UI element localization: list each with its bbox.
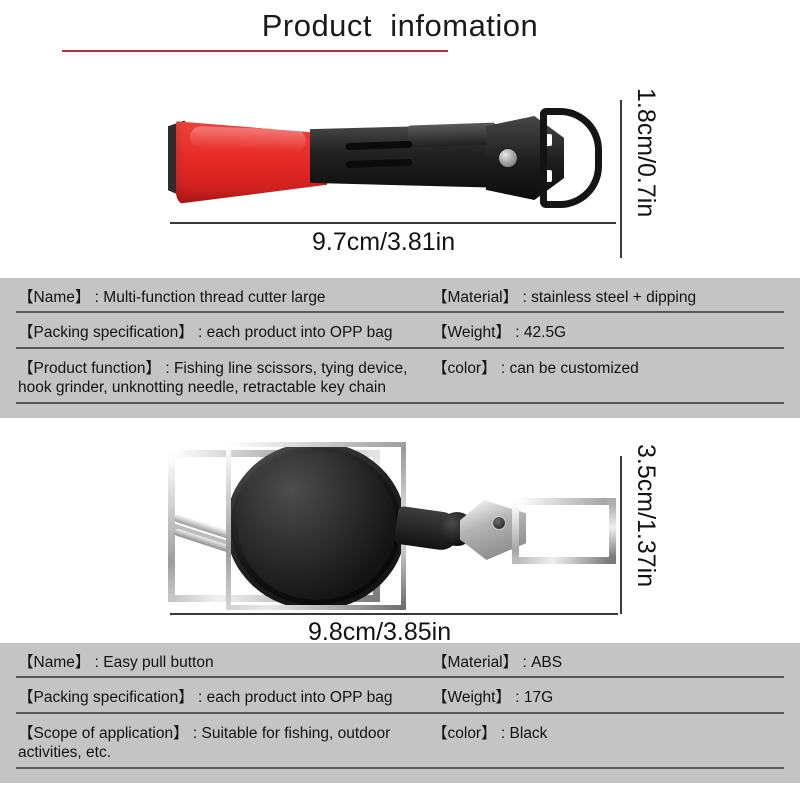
product-2-figure: 9.8cm/3.85in 3.5cm/1.37in	[0, 428, 800, 640]
table-row: 【Scope of application】 : Suitable for fi…	[0, 714, 800, 770]
spec-label: 【Scope of application】	[18, 725, 189, 742]
header-underline	[62, 50, 448, 52]
spec-value: each product into OPP bag	[207, 324, 393, 341]
spec-label: 【Name】	[18, 289, 90, 306]
spec-label: 【Name】	[18, 654, 90, 671]
table-row: 【Name】 : Easy pull button 【Material】 : A…	[0, 643, 800, 678]
product-1-spec-table: 【Name】 : Multi-function thread cutter la…	[0, 278, 800, 418]
product-2-height-dimension-line	[620, 456, 622, 614]
spec-name-cell: 【Name】 : Multi-function thread cutter la…	[18, 288, 418, 307]
spec-separator: :	[90, 289, 103, 306]
spec-label: 【Material】	[432, 654, 518, 671]
spec-label: 【Packing specification】	[18, 324, 194, 341]
page-header: Product infomation	[0, 0, 800, 60]
snap-hook-eyelet	[492, 516, 506, 530]
product-2-width-dimension-line	[170, 613, 618, 615]
spec-label: 【Weight】	[432, 324, 511, 341]
spec-value: 42.5G	[524, 324, 566, 341]
spec-value: Multi-function thread cutter large	[103, 289, 325, 306]
swivel-loop	[512, 498, 616, 564]
spec-separator: :	[511, 689, 524, 706]
spec-separator: :	[518, 289, 531, 306]
spec-separator: :	[518, 654, 531, 671]
spec-value: Easy pull button	[103, 654, 213, 671]
spec-packing-cell: 【Packing specification】 : each product i…	[18, 688, 418, 707]
spec-scope-cell: 【Scope of application】 : Suitable for fi…	[18, 724, 418, 762]
spec-separator: :	[497, 360, 510, 377]
spec-function-cell: 【Product function】 : Fishing line scisso…	[18, 359, 430, 397]
spec-value: each product into OPP bag	[207, 689, 393, 706]
spec-label: 【Packing specification】	[18, 689, 194, 706]
reel-face	[238, 452, 396, 600]
spec-material-cell: 【Material】 : ABS	[432, 653, 788, 672]
row-divider	[16, 402, 784, 404]
spec-value: stainless steel + dipping	[531, 289, 696, 306]
product-1-width-label: 9.7cm/3.81in	[312, 228, 455, 257]
cutter-key-loop	[540, 108, 602, 208]
spec-label: 【color】	[432, 725, 497, 742]
table-row: 【Name】 : Multi-function thread cutter la…	[0, 278, 800, 313]
spec-weight-cell: 【Weight】 : 17G	[432, 688, 788, 707]
spec-label: 【color】	[432, 360, 497, 377]
spec-weight-cell: 【Weight】 : 42.5G	[432, 323, 788, 342]
spec-separator: :	[189, 725, 202, 742]
spec-packing-cell: 【Packing specification】 : each product i…	[18, 323, 418, 342]
product-1-height-label: 1.8cm/0.7in	[631, 88, 660, 217]
spec-label: 【Product function】	[18, 360, 161, 377]
spec-separator: :	[194, 324, 207, 341]
product-1-figure: 9.7cm/3.81in 1.8cm/0.7in	[0, 70, 800, 270]
product-2-height-label: 3.5cm/1.37in	[631, 444, 660, 587]
spec-value: 17G	[524, 689, 553, 706]
spec-label: 【Weight】	[432, 689, 511, 706]
spec-separator: :	[90, 654, 103, 671]
spec-value: Black	[510, 725, 548, 742]
spec-value: can be customized	[510, 360, 639, 377]
table-row: 【Packing specification】 : each product i…	[0, 678, 800, 714]
product-1-width-dimension-line	[170, 222, 616, 224]
table-row: 【Product function】 : Fishing line scisso…	[0, 349, 800, 405]
spec-name-cell: 【Name】 : Easy pull button	[18, 653, 418, 672]
spec-value: ABS	[531, 654, 562, 671]
spec-label: 【Material】	[432, 289, 518, 306]
cutter-grip-highlight	[190, 126, 307, 152]
spec-color-cell: 【color】 : Black	[432, 724, 788, 743]
spec-material-cell: 【Material】 : stainless steel + dipping	[432, 288, 788, 307]
spec-separator: :	[497, 725, 510, 742]
spec-color-cell: 【color】 : can be customized	[432, 359, 788, 378]
badge-reel-illustration	[168, 442, 618, 612]
cutter-top-plate	[408, 122, 497, 147]
spec-separator: :	[511, 324, 524, 341]
cutter-pivot-rivet	[498, 148, 518, 168]
spec-separator: :	[194, 689, 207, 706]
row-divider	[16, 767, 784, 769]
product-1-height-dimension-line	[620, 100, 622, 258]
spec-separator: :	[161, 360, 174, 377]
product-2-spec-table: 【Name】 : Easy pull button 【Material】 : A…	[0, 643, 800, 783]
page-title: Product infomation	[0, 8, 800, 44]
table-row: 【Packing specification】 : each product i…	[0, 313, 800, 349]
thread-cutter-illustration	[168, 98, 600, 216]
